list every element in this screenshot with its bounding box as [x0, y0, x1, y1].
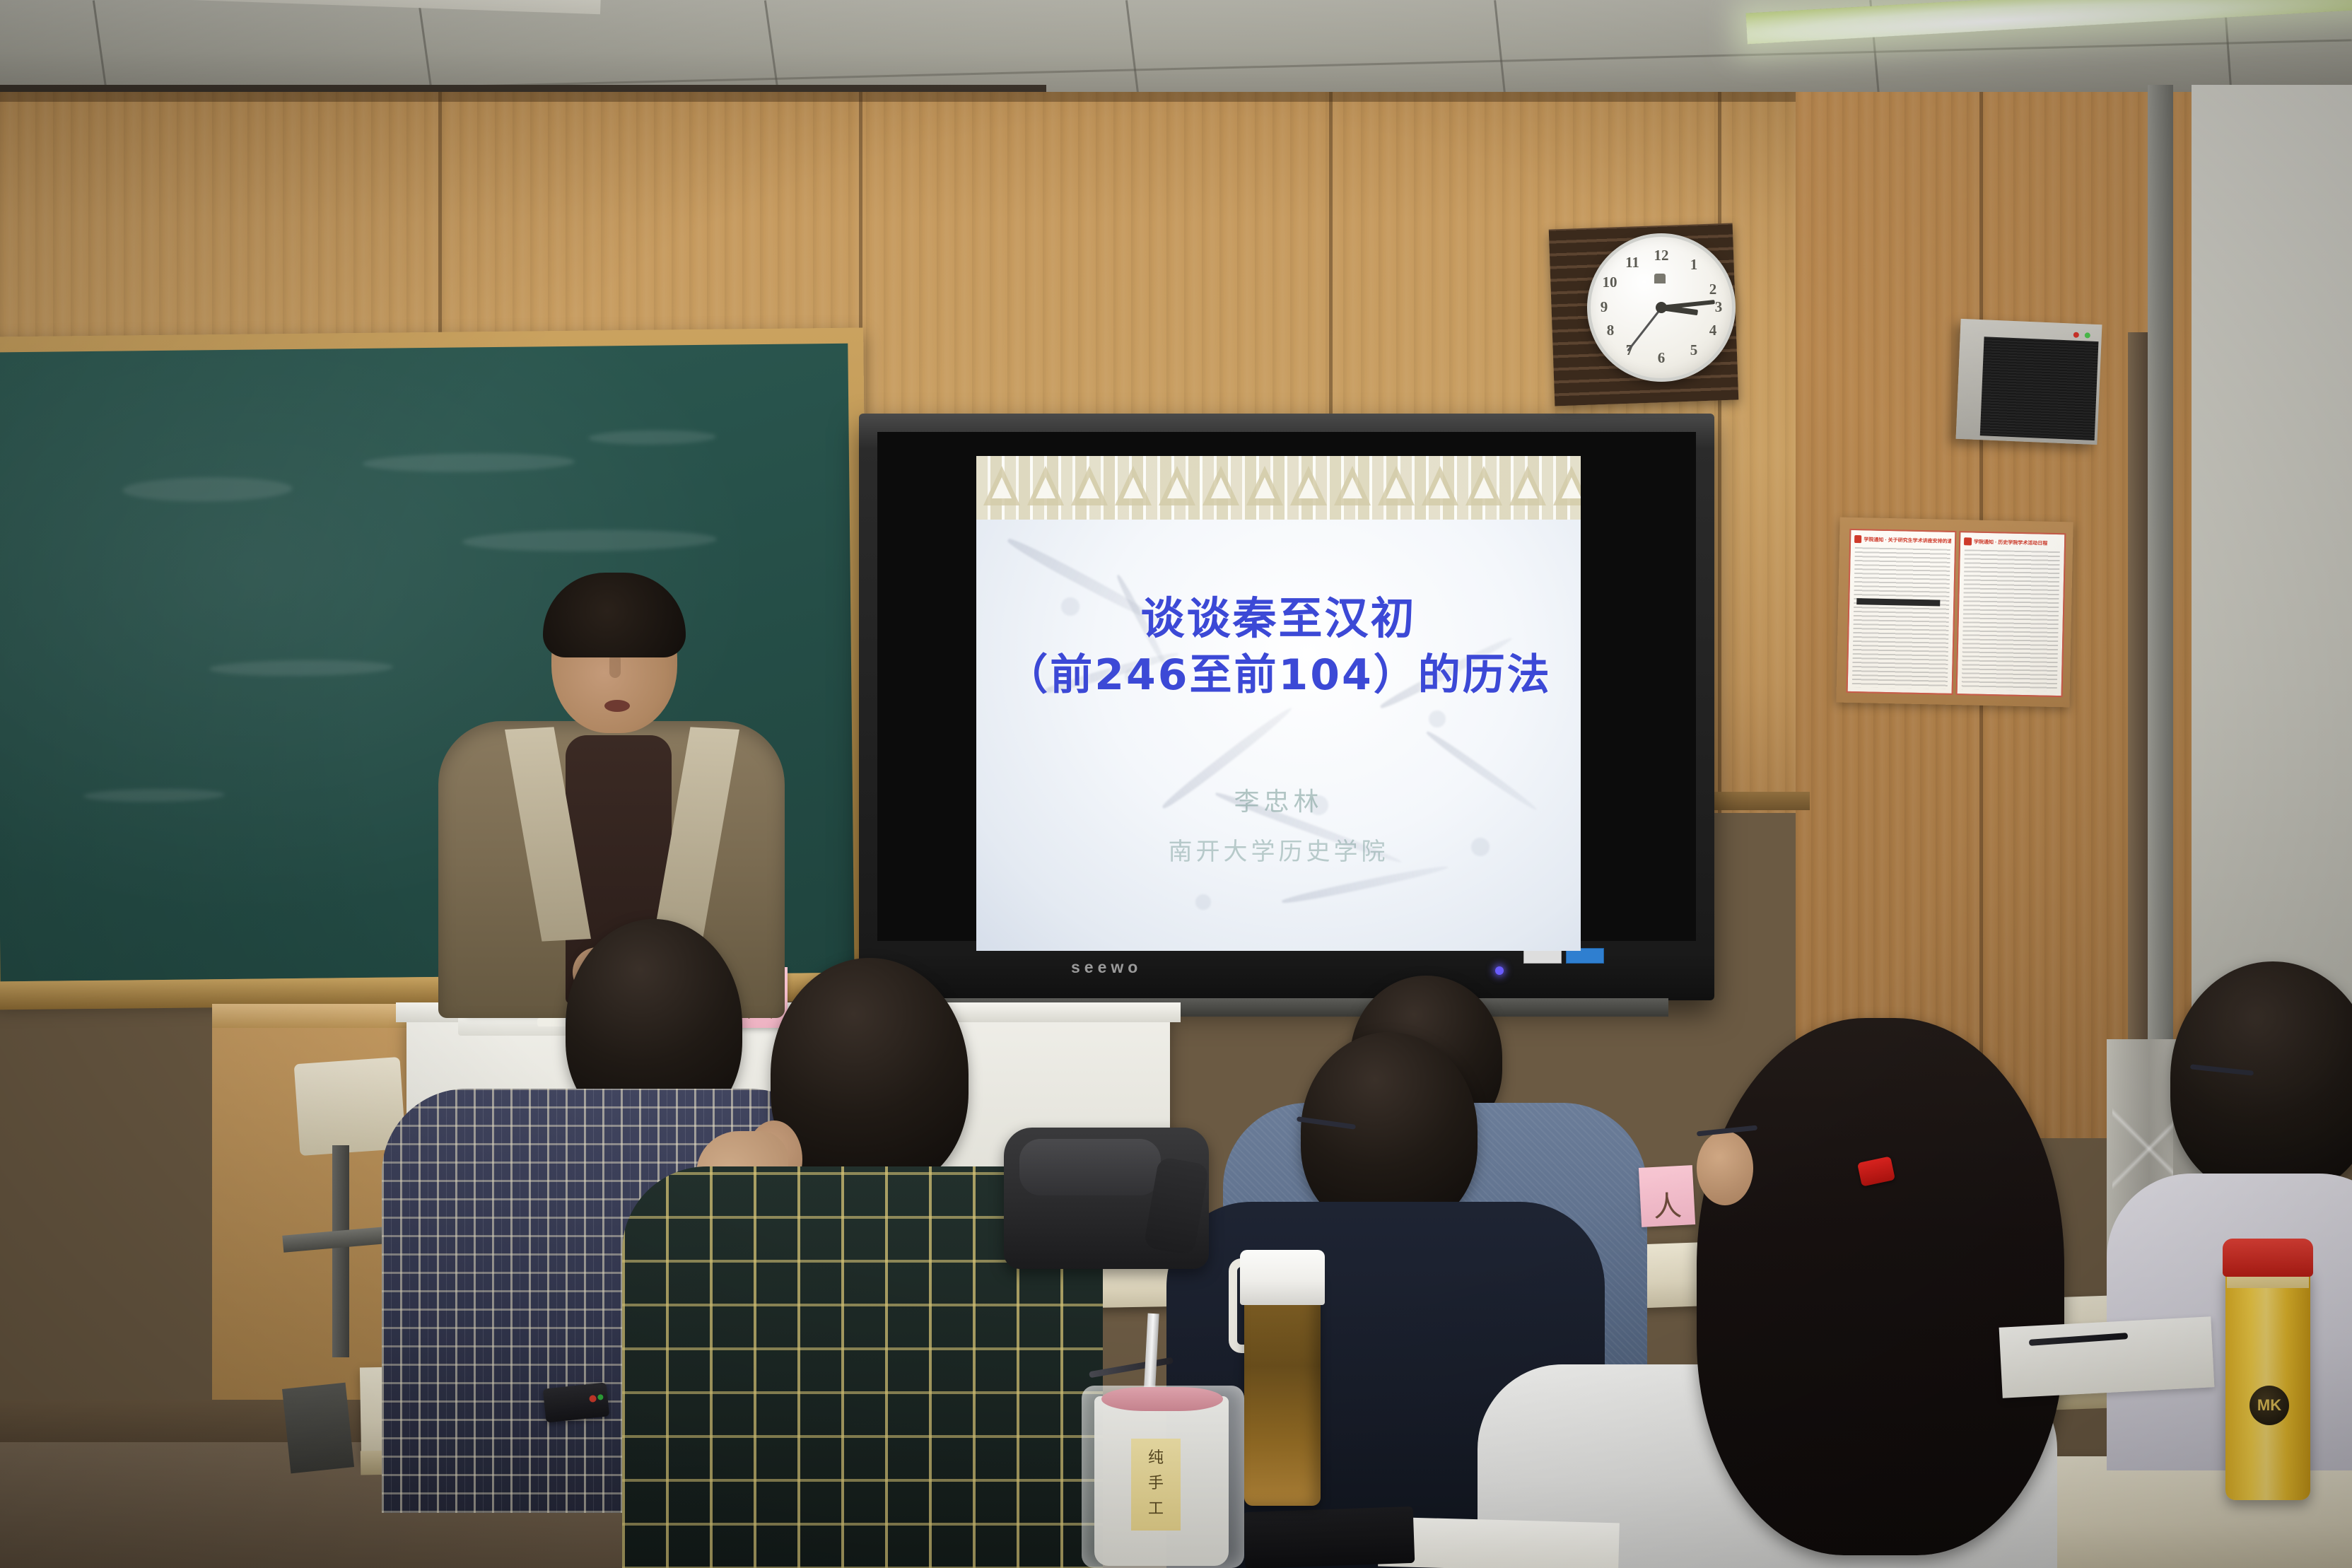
presentation-slide: 谈谈秦至汉初 （前246至前104）的历法 李忠林 南开大学历史学院 [976, 456, 1581, 951]
wall-clock: 12 1 2 3 4 5 6 7 8 9 10 11 [1587, 233, 1736, 382]
seal-icon [1854, 535, 1862, 543]
chair-base [282, 1383, 354, 1474]
backpack-flap [1019, 1139, 1161, 1195]
clock-logo-icon [1654, 274, 1666, 283]
seal-icon [1964, 537, 1972, 545]
phone-indicator-icon [597, 1394, 604, 1400]
chair-post [332, 1145, 349, 1357]
student-hair [1697, 1018, 2064, 1555]
slide-affiliation: 南开大学历史学院 [976, 832, 1581, 867]
student-head [1301, 1032, 1478, 1230]
clock-numeral: 10 [1601, 274, 1619, 291]
clock-numeral: 4 [1704, 322, 1722, 339]
speaker-led-green-icon [2085, 332, 2090, 338]
bottle-cap [1240, 1250, 1325, 1305]
bt-label-line3: 工 [1131, 1501, 1181, 1518]
bt-label-line1: 纯 [1131, 1450, 1181, 1467]
power-led-icon [1495, 966, 1504, 975]
clock-numeral: 2 [1704, 281, 1722, 298]
wall-speaker [1956, 319, 2102, 445]
slide-title-line2: （前246至前104）的历法 [976, 648, 1581, 703]
door-frame [2148, 85, 2173, 1145]
notice-poster[interactable]: 学院通知 · 关于研究生学术讲座安排的通知 [1847, 529, 1957, 695]
clock-numeral: 5 [1685, 341, 1703, 359]
lecturer-mouth [604, 700, 630, 712]
backpack [1004, 1128, 1209, 1269]
student-ear [1697, 1131, 1753, 1205]
cup-lid [1101, 1387, 1223, 1411]
clock-numeral: 1 [1685, 256, 1703, 274]
notice-board: 学院通知 · 关于研究生学术讲座安排的通知 学院通知 · 历史学院学术活动日程 [1836, 517, 2073, 708]
display-brand-logo: seewo [1071, 958, 1142, 977]
slide-title-line1: 谈谈秦至汉初 [1140, 592, 1416, 644]
bubble-tea-label: 纯 手 工 [1131, 1439, 1181, 1531]
name-card-text: 人 [1639, 1182, 1695, 1226]
speaker-led-red-icon [2073, 332, 2079, 338]
thermos-logo: MK [2249, 1386, 2289, 1425]
open-notebook [1999, 1316, 2215, 1398]
clock-center-pin [1656, 302, 1667, 313]
tea-bottle [1244, 1272, 1321, 1506]
poster-body-text [1962, 549, 2060, 691]
thermos-cap [2223, 1239, 2313, 1277]
speaker-grille-icon [1980, 337, 2099, 440]
slide-author: 李忠林 [976, 781, 1581, 818]
clock-numeral: 11 [1623, 254, 1642, 271]
smartphone[interactable] [543, 1382, 610, 1422]
name-card: 人 [1639, 1165, 1695, 1227]
wall-white-right [2192, 85, 2352, 1075]
slide-title: 谈谈秦至汉初 （前246至前104）的历法 [976, 590, 1581, 703]
thermos-bottle [2225, 1267, 2310, 1500]
clock-numeral: 8 [1601, 322, 1620, 339]
poster-title: 学院通知 · 关于研究生学术讲座安排的通知 [1864, 536, 1951, 545]
bt-label-line2: 手 [1131, 1475, 1181, 1492]
clock-second-hand [1627, 307, 1662, 351]
phone-indicator-icon [589, 1395, 597, 1403]
tablet-device[interactable] [1244, 1506, 1415, 1568]
clock-numeral: 12 [1652, 247, 1671, 264]
poster-title: 学院通知 · 历史学院学术活动日程 [1974, 538, 2047, 546]
wall-divider-strip [2128, 332, 2149, 1124]
clock-numeral: 6 [1652, 349, 1671, 367]
clock-numeral: 9 [1595, 298, 1613, 316]
nose-icon [609, 654, 621, 678]
notice-poster[interactable]: 学院通知 · 历史学院学术活动日程 [1956, 531, 2066, 697]
poster-body-text [1852, 547, 1950, 689]
classroom-scene: seewo [0, 0, 2352, 1568]
